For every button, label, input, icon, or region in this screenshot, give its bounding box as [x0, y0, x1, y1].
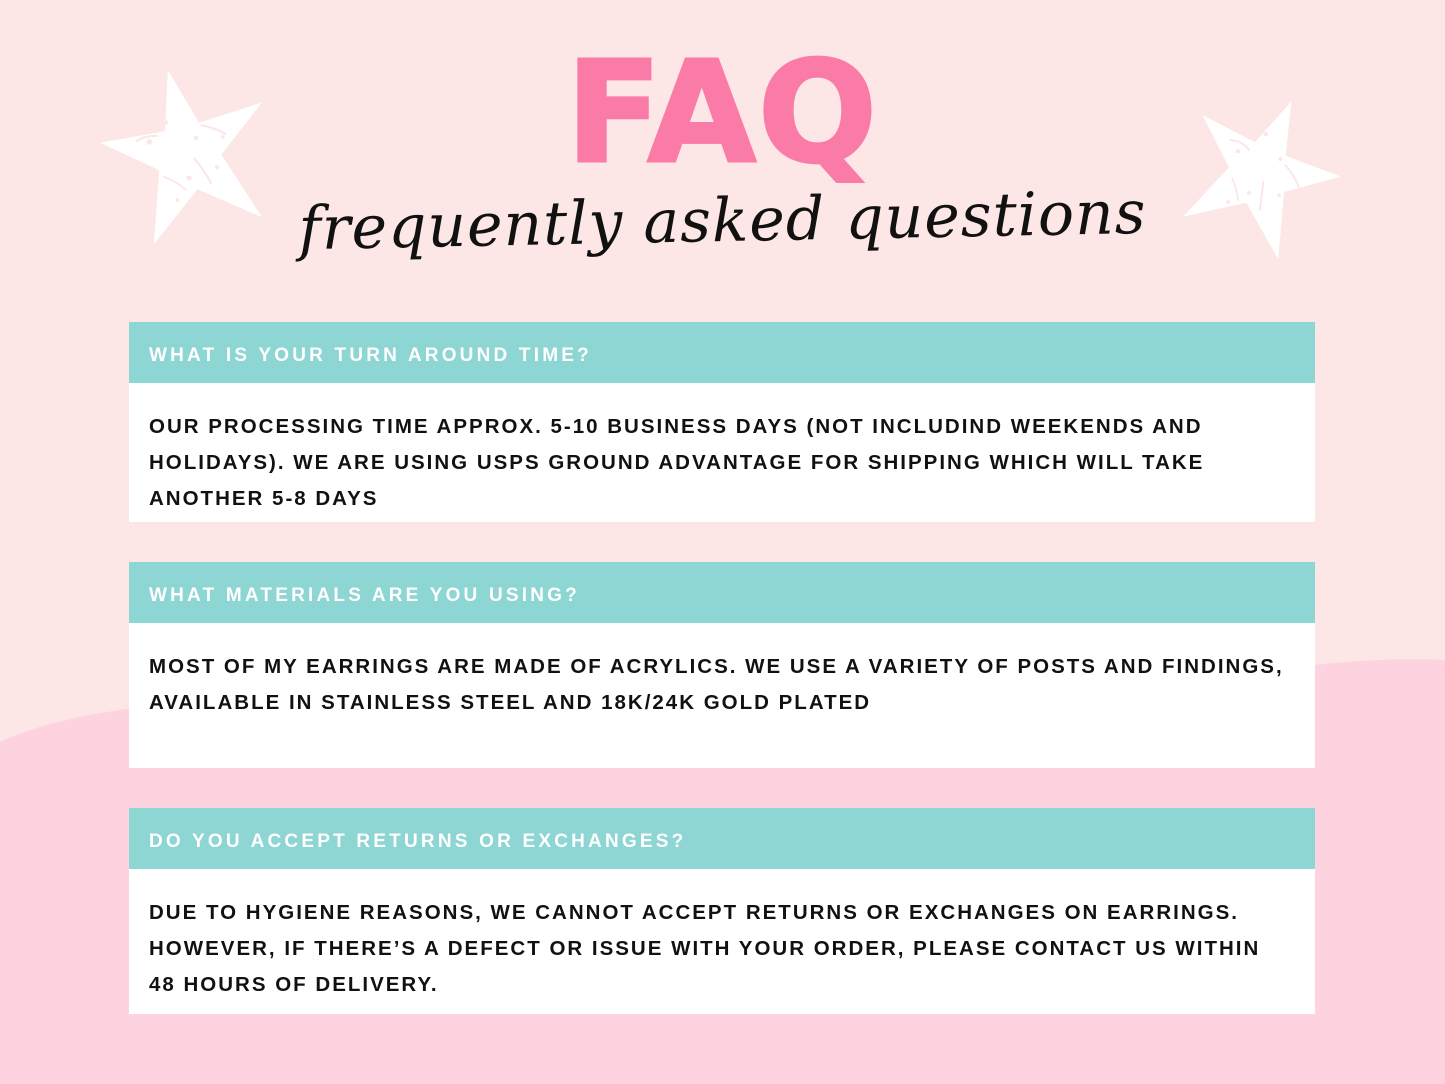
faq-page: FAQ frequently asked questions WHAT IS Y…	[0, 0, 1445, 1084]
faq-list: WHAT IS YOUR TURN AROUND TIME? OUR PROCE…	[129, 322, 1315, 1014]
faq-answer: DUE TO HYGIENE REASONS, WE CANNOT ACCEPT…	[129, 869, 1315, 1014]
faq-answer: OUR PROCESSING TIME APPROX. 5-10 BUSINES…	[129, 383, 1315, 522]
page-subtitle: frequently asked questions	[0, 176, 1445, 267]
page-header: FAQ frequently asked questions	[0, 0, 1445, 253]
page-title: FAQ	[0, 0, 1445, 184]
faq-question[interactable]: WHAT IS YOUR TURN AROUND TIME?	[129, 322, 1315, 383]
faq-item[interactable]: WHAT IS YOUR TURN AROUND TIME? OUR PROCE…	[129, 322, 1315, 522]
faq-question[interactable]: WHAT MATERIALS ARE YOU USING?	[129, 562, 1315, 623]
faq-answer: MOST OF MY EARRINGS ARE MADE OF ACRYLICS…	[129, 623, 1315, 768]
faq-item[interactable]: WHAT MATERIALS ARE YOU USING? MOST OF MY…	[129, 562, 1315, 768]
faq-item[interactable]: DO YOU ACCEPT RETURNS OR EXCHANGES? DUE …	[129, 808, 1315, 1014]
faq-question[interactable]: DO YOU ACCEPT RETURNS OR EXCHANGES?	[129, 808, 1315, 869]
